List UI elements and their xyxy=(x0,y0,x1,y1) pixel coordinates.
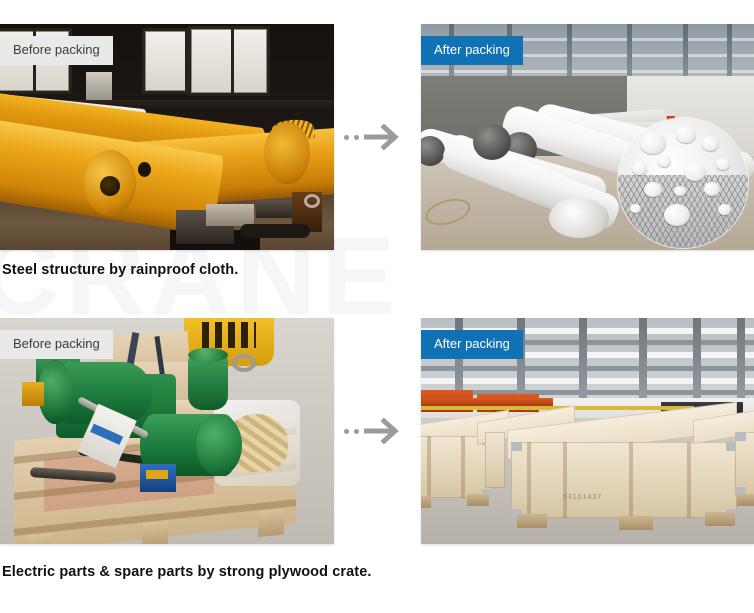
crate-front-foot-2 xyxy=(619,516,653,530)
arrow-before-to-after-steel xyxy=(344,122,412,152)
main-motor-fan-cover xyxy=(196,414,242,476)
arrow-before-to-after-electric xyxy=(344,416,412,446)
badge-after-packing: After packing xyxy=(421,330,523,359)
steel-plate xyxy=(206,204,254,226)
arrow-dot-2 xyxy=(354,429,359,434)
crate-left-foot-2 xyxy=(467,494,489,506)
photo-before-steel-structure[interactable]: Before packing xyxy=(0,24,334,250)
caption-steel-structure: Steel structure by rainproof cloth. xyxy=(2,262,238,278)
crane-hook xyxy=(232,354,256,372)
right-arrow-icon xyxy=(364,418,406,444)
crate-serial-code: 53101437 xyxy=(563,494,602,501)
orange-crane-rail xyxy=(423,398,553,406)
comparison-row-electric-parts: Before packing xyxy=(0,318,754,580)
photo-after-electric-parts[interactable]: 53101437 After packing xyxy=(421,318,754,544)
arrow-dot-1 xyxy=(344,429,349,434)
crate-left xyxy=(421,436,493,498)
crate-left-foot-1 xyxy=(421,496,431,508)
arrow-dot-1 xyxy=(344,135,349,140)
arrow-dot-2 xyxy=(354,135,359,140)
caption-electric-parts: Electric parts & spare parts by strong p… xyxy=(2,564,372,580)
water-beading-detail-circle xyxy=(618,118,748,248)
comparison-row-steel-structure: Before packing xyxy=(0,24,754,286)
photo-after-steel-structure[interactable]: After packing xyxy=(421,24,754,250)
girder-right-endcap xyxy=(264,122,310,184)
steel-block-2 xyxy=(256,200,292,218)
photo-before-electric-parts[interactable]: Before packing xyxy=(0,318,334,544)
badge-before-packing: Before packing xyxy=(0,36,113,65)
crate-front: 53101437 xyxy=(511,442,737,518)
yellow-control-box xyxy=(22,382,44,406)
girder-front-hub xyxy=(100,176,120,196)
crate-right xyxy=(735,432,754,496)
steel-ring xyxy=(304,194,320,208)
crate-right-foot xyxy=(737,494,754,506)
secondary-motor xyxy=(188,354,228,410)
badge-before-packing: Before packing xyxy=(0,330,113,359)
window-right xyxy=(188,26,270,96)
wrapped-girder-front-end xyxy=(549,198,609,238)
right-arrow-icon xyxy=(364,124,406,150)
workshop-drum xyxy=(86,72,112,100)
packing-comparison-page: CRANE xyxy=(0,0,754,613)
crate-front-foot-1 xyxy=(517,514,547,528)
wrapped-girder-2-cap xyxy=(473,124,511,160)
girder-bolt-hole xyxy=(138,162,151,177)
steel-bar xyxy=(240,224,310,238)
crate-front-foot-3 xyxy=(705,512,735,526)
blue-terminal-box xyxy=(140,464,176,492)
crate-second xyxy=(485,432,505,488)
badge-after-packing: After packing xyxy=(421,36,523,65)
secondary-motor-cap xyxy=(188,348,228,362)
